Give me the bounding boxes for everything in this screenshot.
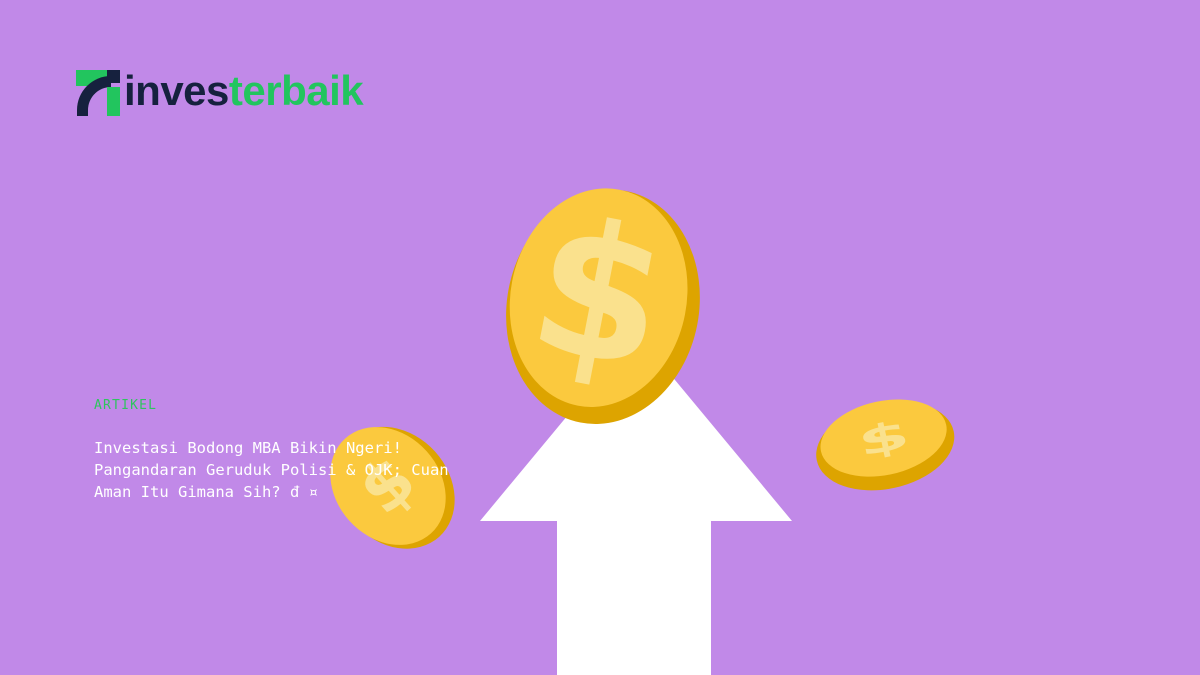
article-text-block: ARTIKEL Investasi Bodong MBA Bikin Ngeri… — [94, 398, 474, 503]
wordmark-dark-part: inves — [124, 67, 229, 114]
logo-mark-i-stem — [107, 87, 120, 116]
coin-right: $ — [806, 386, 966, 496]
article-kicker: ARTIKEL — [94, 398, 474, 413]
brand-logo[interactable]: investerbaik — [76, 60, 363, 116]
brand-wordmark: investerbaik — [124, 70, 363, 112]
coin-main: $ — [500, 178, 730, 438]
article-headline: Investasi Bodong MBA Bikin Ngeri! Pangan… — [94, 437, 474, 503]
wordmark-green-part: terbaik — [229, 67, 363, 114]
logo-mark-i-dot — [107, 70, 120, 83]
article-thumbnail-canvas: $ $ $ — [0, 0, 1200, 675]
investerbaik-logo-mark — [76, 64, 122, 116]
